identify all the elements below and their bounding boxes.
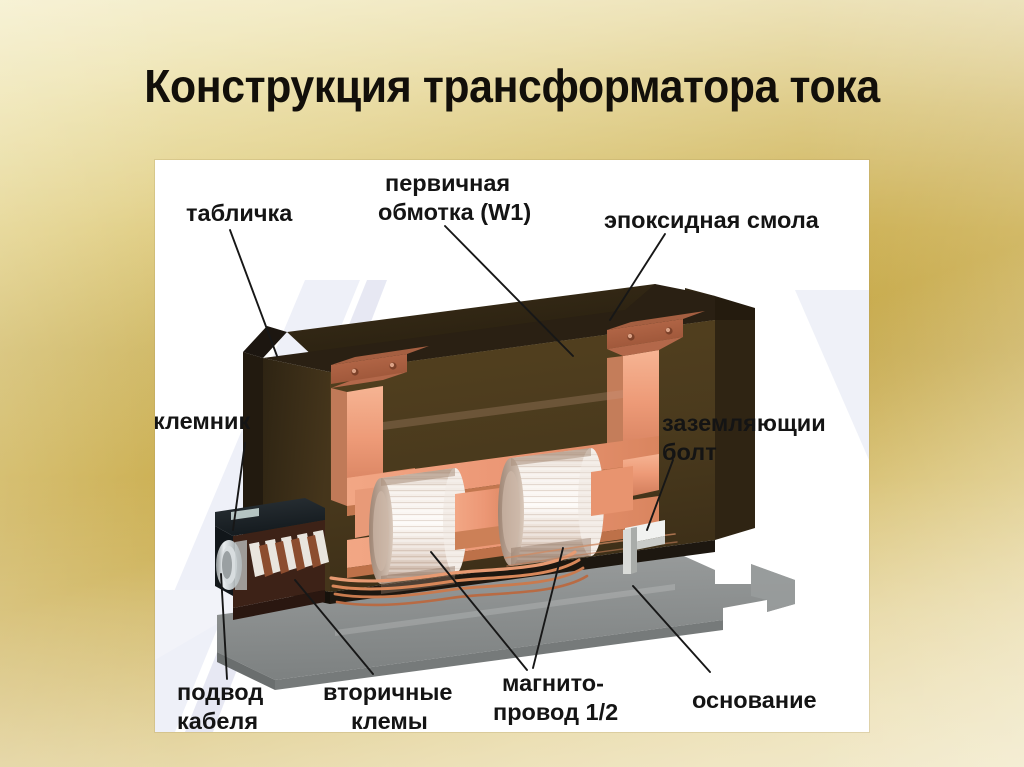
current-transformer-illustration: табличка первичная обмотка (W1) эпоксидн… (155, 160, 869, 732)
label-base: основание (692, 687, 817, 713)
label-magnetic-core-line1: магнито- (502, 670, 604, 696)
label-epoxy-resin: эпоксидная смола (604, 207, 820, 233)
label-terminal-block: клемник (155, 408, 250, 434)
label-primary-winding-line2: обмотка (W1) (378, 199, 531, 225)
label-secondary-terminals-line2: клемы (351, 708, 428, 732)
label-cable-entry-line1: подвод (177, 679, 263, 705)
label-magnetic-core-line2: провод 1/2 (493, 699, 618, 725)
label-cable-entry-line2: кабеля (177, 708, 258, 732)
label-secondary-terminals-line1: вторичные (323, 679, 452, 705)
label-ground-bolt-line2: болт (662, 439, 717, 465)
label-nameplate: табличка (186, 200, 293, 226)
page-title: Конструкция трансформатора тока (36, 58, 988, 114)
slide-canvas: Конструкция трансформатора тока (0, 0, 1024, 767)
figure-panel: табличка первичная обмотка (W1) эпоксидн… (155, 160, 869, 732)
label-primary-winding-line1: первичная (385, 170, 510, 196)
label-ground-bolt-line1: заземляющии (662, 410, 826, 436)
